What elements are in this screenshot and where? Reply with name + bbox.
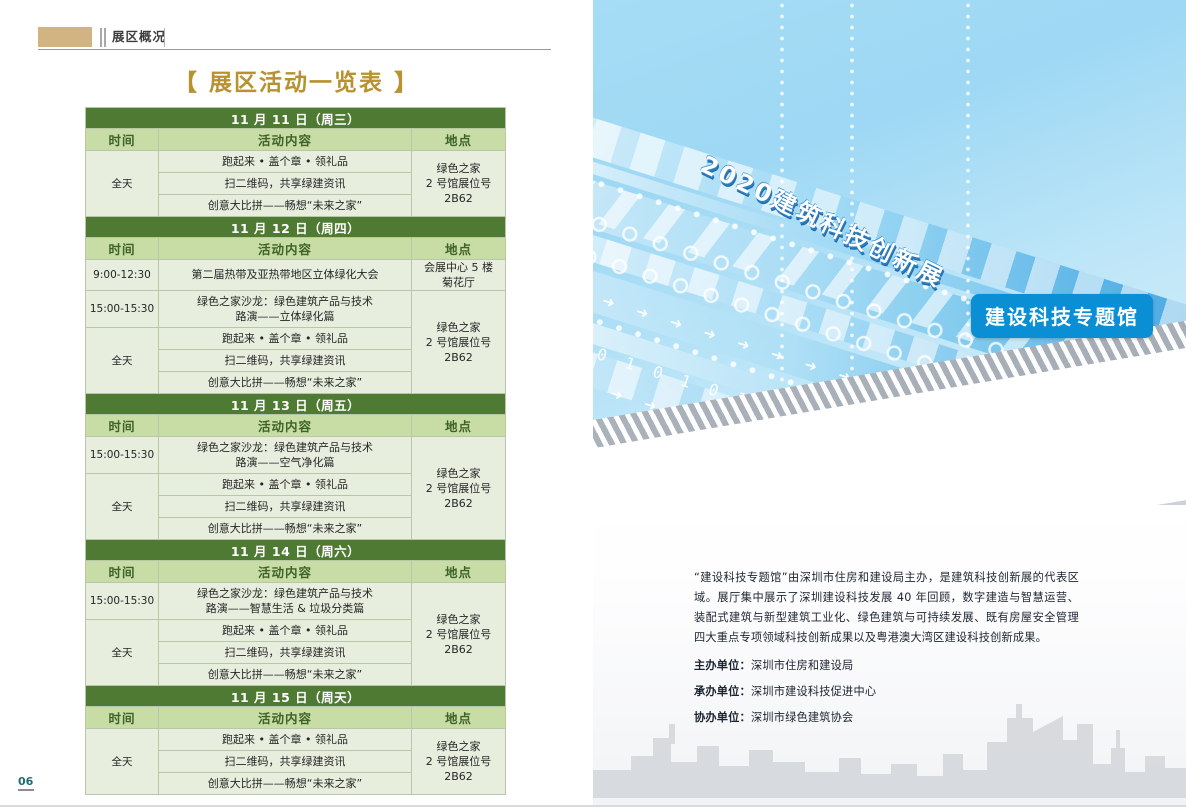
organizer-line: 承办单位：深圳市建设科技促进中心: [694, 683, 1079, 700]
organizer-role: 承办单位：: [694, 685, 751, 698]
schedule-table: 11 月 11 日（周三）时间活动内容地点全天跑起来 • 盖个章 • 领礼品绿色…: [85, 107, 506, 795]
table-day-header: 11 月 13 日（周五）: [86, 394, 506, 415]
cell-activity: 跑起来 • 盖个章 • 领礼品: [159, 474, 412, 496]
schedule-body: 11 月 11 日（周三）时间活动内容地点全天跑起来 • 盖个章 • 领礼品绿色…: [86, 108, 506, 795]
page-title: 【 展区活动一览表 】: [0, 63, 593, 97]
column-header-time: 时间: [86, 561, 159, 583]
organizer-name: 深圳市住房和建设局: [751, 659, 854, 672]
cell-location: 绿色之家2 号馆展位号2B62: [412, 583, 506, 686]
column-header-location: 地点: [412, 415, 506, 437]
cell-time: 15:00-15:30: [86, 583, 159, 620]
table-column-header: 时间活动内容地点: [86, 238, 506, 260]
description-paragraph: “建设科技专题馆”由深圳市住房和建设局主办，是建筑科技创新展的代表区域。展厅集中…: [694, 568, 1079, 648]
cell-activity: 扫二维码，共享绿建资讯: [159, 751, 412, 773]
table-row: 9:00-12:30第二届热带及亚热带地区立体绿化大会会展中心 5 楼菊花厅: [86, 260, 506, 291]
cell-activity: 跑起来 • 盖个章 • 领礼品: [159, 328, 412, 350]
page-number-rule: [18, 789, 34, 791]
cell-location: 绿色之家2 号馆展位号2B62: [412, 291, 506, 394]
cell-time: 全天: [86, 328, 159, 394]
header-end-tick: [164, 28, 165, 47]
organizer-list: 主办单位：深圳市住房和建设局承办单位：深圳市建设科技促进中心协办单位：深圳市绿色…: [694, 657, 1079, 726]
cell-activity: 第二届热带及亚热带地区立体绿化大会: [159, 260, 412, 291]
column-header-time: 时间: [86, 707, 159, 729]
column-header-location: 地点: [412, 707, 506, 729]
cell-activity: 扫二维码，共享绿建资讯: [159, 173, 412, 195]
cell-time: 全天: [86, 729, 159, 795]
table-column-header: 时间活动内容地点: [86, 129, 506, 151]
cell-activity: 创意大比拼——畅想“未来之家”: [159, 372, 412, 394]
table-column-header: 时间活动内容地点: [86, 561, 506, 583]
cell-activity: 绿色之家沙龙：绿色建筑产品与技术路演——智慧生活 & 垃圾分类篇: [159, 583, 412, 620]
header-color-swatch: [38, 27, 92, 47]
column-header-activity: 活动内容: [159, 238, 412, 260]
table-column-header: 时间活动内容地点: [86, 415, 506, 437]
cell-time: 15:00-15:30: [86, 437, 159, 474]
cell-activity: 扫二维码，共享绿建资讯: [159, 350, 412, 372]
column-header-activity: 活动内容: [159, 129, 412, 151]
cell-activity: 跑起来 • 盖个章 • 领礼品: [159, 729, 412, 751]
organizer-role: 协办单位：: [694, 711, 751, 724]
section-label: 展区概况: [112, 28, 166, 47]
left-page: 展区概况 【 展区活动一览表 】 11 月 11 日（周三）时间活动内容地点全天…: [0, 0, 593, 807]
column-header-time: 时间: [86, 238, 159, 260]
organizer-name: 深圳市绿色建筑协会: [751, 711, 854, 724]
cell-activity: 创意大比拼——畅想“未来之家”: [159, 773, 412, 795]
cell-time: 全天: [86, 151, 159, 217]
description-block: “建设科技专题馆”由深圳市住房和建设局主办，是建筑科技创新展的代表区域。展厅集中…: [694, 568, 1079, 726]
column-header-activity: 活动内容: [159, 707, 412, 729]
table-row: 15:00-15:30绿色之家沙龙：绿色建筑产品与技术路演——立体绿化篇绿色之家…: [86, 291, 506, 328]
organizer-name: 深圳市建设科技促进中心: [751, 685, 876, 698]
day-label: 11 月 11 日（周三）: [86, 108, 506, 129]
column-header-location: 地点: [412, 238, 506, 260]
table-row: 全天跑起来 • 盖个章 • 领礼品绿色之家2 号馆展位号2B62: [86, 729, 506, 751]
cell-activity: 绿色之家沙龙：绿色建筑产品与技术路演——立体绿化篇: [159, 291, 412, 328]
cell-activity: 扫二维码，共享绿建资讯: [159, 496, 412, 518]
table-row: 全天跑起来 • 盖个章 • 领礼品绿色之家2 号馆展位号2B62: [86, 151, 506, 173]
table-row: 15:00-15:30绿色之家沙龙：绿色建筑产品与技术路演——智慧生活 & 垃圾…: [86, 583, 506, 620]
cell-location: 绿色之家2 号馆展位号2B62: [412, 729, 506, 795]
organizer-line: 主办单位：深圳市住房和建设局: [694, 657, 1079, 674]
table-day-header: 11 月 12 日（周四）: [86, 217, 506, 238]
day-label: 11 月 13 日（周五）: [86, 394, 506, 415]
cell-time: 全天: [86, 620, 159, 686]
day-label: 11 月 12 日（周四）: [86, 217, 506, 238]
table-row: 15:00-15:30绿色之家沙龙：绿色建筑产品与技术路演——空气净化篇绿色之家…: [86, 437, 506, 474]
column-header-location: 地点: [412, 561, 506, 583]
cell-activity: 创意大比拼——畅想“未来之家”: [159, 518, 412, 540]
cell-activity: 跑起来 • 盖个章 • 领礼品: [159, 151, 412, 173]
table-day-header: 11 月 11 日（周三）: [86, 108, 506, 129]
right-page: ➜ ➜ ➜ ➜ ➜ ➜ ➜ ➜ ➜ ➜ ➜ ➜ ➜ ➜ ➜ ➜ ➜ ➜ ➜ ➜ …: [593, 0, 1186, 807]
table-day-header: 11 月 15 日（周天）: [86, 686, 506, 707]
table-day-header: 11 月 14 日（周六）: [86, 540, 506, 561]
cell-activity: 绿色之家沙龙：绿色建筑产品与技术路演——空气净化篇: [159, 437, 412, 474]
organizer-line: 协办单位：深圳市绿色建筑协会: [694, 709, 1079, 726]
cell-time: 全天: [86, 474, 159, 540]
column-header-time: 时间: [86, 129, 159, 151]
cell-activity: 创意大比拼——畅想“未来之家”: [159, 664, 412, 686]
cell-location: 绿色之家2 号馆展位号2B62: [412, 437, 506, 540]
hall-badge: 建设科技专题馆: [971, 294, 1153, 338]
header-divider-bars: [100, 28, 106, 47]
day-label: 11 月 14 日（周六）: [86, 540, 506, 561]
cell-activity: 跑起来 • 盖个章 • 领礼品: [159, 620, 412, 642]
cell-time: 9:00-12:30: [86, 260, 159, 291]
table-column-header: 时间活动内容地点: [86, 707, 506, 729]
header-rule: [38, 49, 551, 50]
organizer-role: 主办单位：: [694, 659, 751, 672]
column-header-activity: 活动内容: [159, 415, 412, 437]
cell-activity: 创意大比拼——畅想“未来之家”: [159, 195, 412, 217]
column-header-activity: 活动内容: [159, 561, 412, 583]
cell-time: 15:00-15:30: [86, 291, 159, 328]
column-header-location: 地点: [412, 129, 506, 151]
column-header-time: 时间: [86, 415, 159, 437]
cell-location: 会展中心 5 楼菊花厅: [412, 260, 506, 291]
day-label: 11 月 15 日（周天）: [86, 686, 506, 707]
cell-location: 绿色之家2 号馆展位号2B62: [412, 151, 506, 217]
page-number: 06: [18, 775, 33, 788]
cell-activity: 扫二维码，共享绿建资讯: [159, 642, 412, 664]
